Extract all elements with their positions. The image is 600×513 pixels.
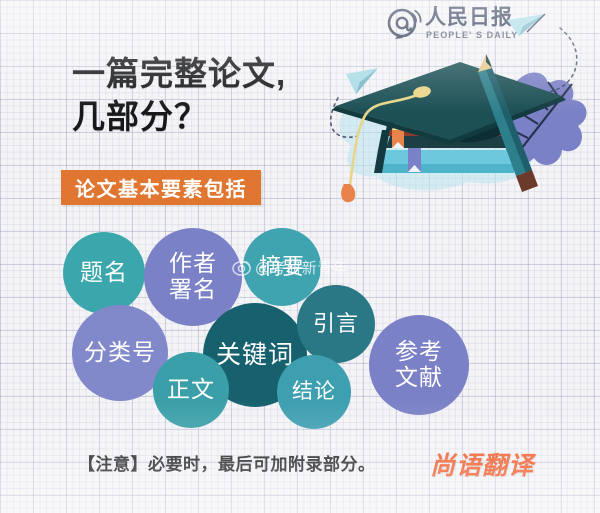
bubble-label: 作者署名 [169, 251, 217, 303]
brand-mark: 尚语翻译 [430, 446, 534, 482]
bubble-item[interactable]: 参考文献 [369, 315, 469, 415]
bubble-label: 参考文献 [395, 339, 443, 391]
bubble-label: 关键词 [216, 341, 294, 369]
logo-cn-text: 人民日报 [425, 7, 513, 29]
bubble-label: 引言 [313, 312, 359, 337]
bubble-label: 摘要 [259, 255, 305, 280]
headline-line-2: 几部分？ [72, 95, 332, 138]
peoples-daily-logo: 人民日报 PEOPLE' S DAILY [385, 6, 545, 46]
bubble-item[interactable]: 结论 [277, 355, 351, 429]
footnote-text: 【注意】必要时，最后可加附录部分。 [78, 450, 376, 475]
bubble-item[interactable]: 题名 [63, 232, 145, 314]
at-symbol-icon [385, 8, 425, 42]
headline-line-1: 一篇完整论文, [72, 52, 332, 95]
bubble-item[interactable]: 引言 [297, 285, 375, 363]
banner-label: 论文基本要素包括 [75, 173, 247, 202]
paper-plane-small [346, 68, 378, 94]
graduation-illustration [300, 18, 600, 223]
section-banner: 论文基本要素包括 [61, 170, 261, 205]
bubble-label: 正文 [167, 377, 215, 403]
bubble-item[interactable]: 正文 [153, 352, 229, 428]
paper-plane-icon [505, 12, 547, 40]
bubble-label: 分类号 [84, 340, 156, 366]
page-title: 一篇完整论文, 几部分？ [72, 52, 332, 138]
poster-canvas: 人民日报 PEOPLE' S DAILY 一篇完整论文, 几部分？ 论文基本要素… [0, 0, 600, 513]
bubble-label: 题名 [80, 260, 128, 286]
bubble-label: 结论 [292, 380, 336, 404]
